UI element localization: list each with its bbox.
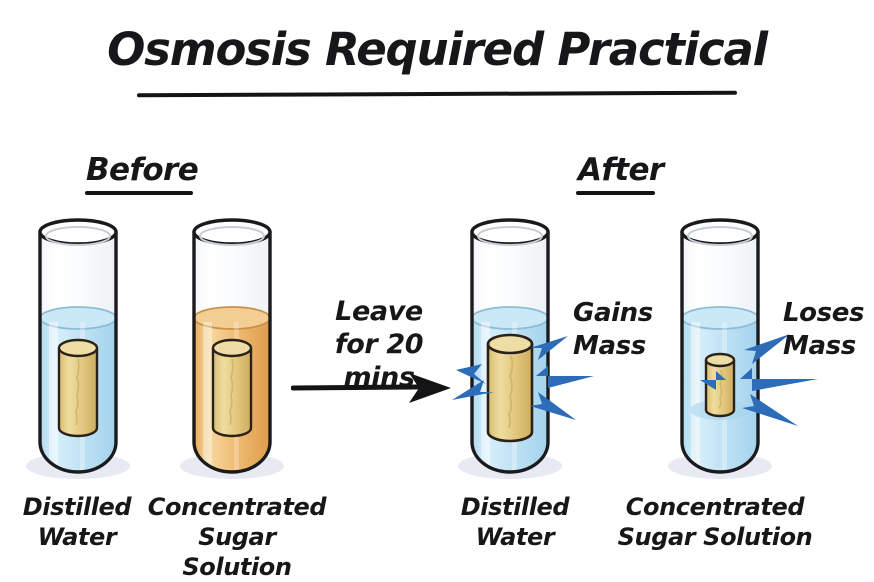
potato-cylinder-swollen <box>488 335 532 441</box>
caption-line-2: Sugar Solution <box>146 522 328 582</box>
caption-line-1: Concentrated <box>146 492 328 522</box>
diagram-canvas: Osmosis Required Practical Before After <box>0 0 874 580</box>
section-heading-before: Before <box>86 152 198 188</box>
caption-line-1: Concentrated <box>604 492 826 522</box>
callout-gains-line-2: Mass <box>573 330 653 363</box>
callout-gains-mass: Gains Mass <box>573 297 653 363</box>
section-heading-after: After <box>578 152 664 188</box>
transition-line-1: Leave <box>296 295 462 328</box>
caption-line-2: Sugar Solution <box>604 522 826 552</box>
page-title-wrap: Osmosis Required Practical <box>0 24 874 76</box>
page-title: Osmosis Required Practical <box>107 24 767 76</box>
caption-distilled-water-before: Distilled Water <box>2 492 152 552</box>
caption-distilled-water-after: Distilled Water <box>440 492 590 552</box>
caption-line-2: Water <box>440 522 590 552</box>
test-tube-sugar-solution-before <box>172 214 292 482</box>
callout-gains-line-1: Gains <box>573 297 653 330</box>
section-underline-after <box>576 191 655 195</box>
callout-loses-line-2: Mass <box>783 330 864 363</box>
callout-loses-line-1: Loses <box>783 297 864 330</box>
caption-line-2: Water <box>2 522 152 552</box>
potato-cylinder <box>213 340 251 436</box>
callout-loses-mass: Loses Mass <box>783 297 864 363</box>
potato-cylinder <box>59 340 97 436</box>
section-underline-before <box>85 191 193 195</box>
right-arrow-icon <box>291 368 456 408</box>
caption-line-1: Distilled <box>2 492 152 522</box>
title-underline <box>137 91 737 98</box>
caption-sugar-solution-before: Concentrated Sugar Solution <box>146 492 328 582</box>
caption-line-1: Distilled <box>440 492 590 522</box>
test-tube-distilled-water-before <box>18 214 138 482</box>
caption-sugar-solution-after: Concentrated Sugar Solution <box>604 492 826 552</box>
